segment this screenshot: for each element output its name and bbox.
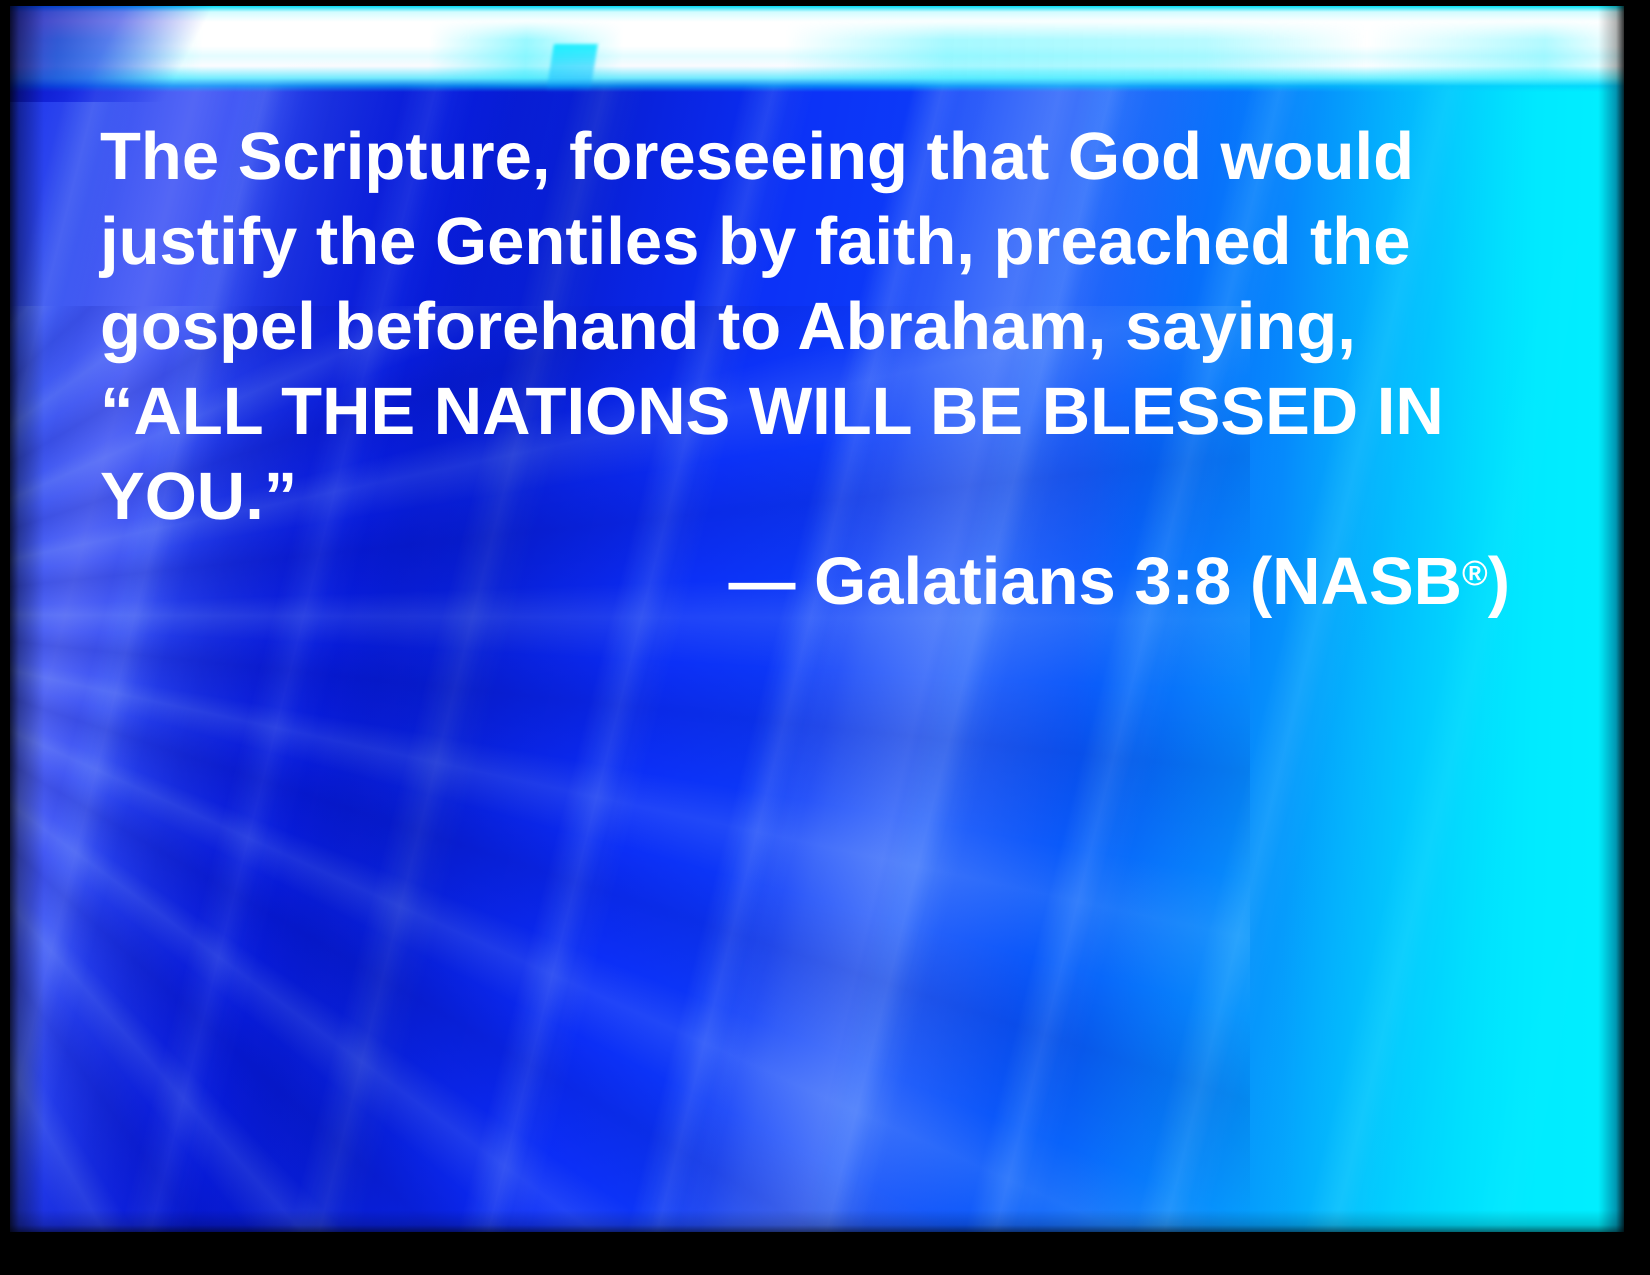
slide-frame: The Scripture, foreseeing that God would… (0, 0, 1650, 1275)
verse-line-3: gospel beforehand to Abraham, saying, (100, 284, 1530, 369)
slide-stage: The Scripture, foreseeing that God would… (10, 6, 1624, 1232)
verse-text-block: The Scripture, foreseeing that God would… (100, 114, 1530, 539)
verse-attribution: — Galatians 3:8 (NASB®) (100, 539, 1510, 624)
registered-trademark-icon: ® (1462, 554, 1488, 593)
verse-line-5: YOU.” (100, 454, 1530, 539)
verse-line-1: The Scripture, foreseeing that God would (100, 114, 1530, 199)
verse-line-4: “ALL THE NATIONS WILL BE BLESSED IN (100, 369, 1530, 454)
verse-line-2: justify the Gentiles by faith, preached … (100, 199, 1530, 284)
attribution-prefix: — Galatians 3:8 (NASB (729, 544, 1462, 619)
attribution-suffix: ) (1488, 544, 1510, 619)
